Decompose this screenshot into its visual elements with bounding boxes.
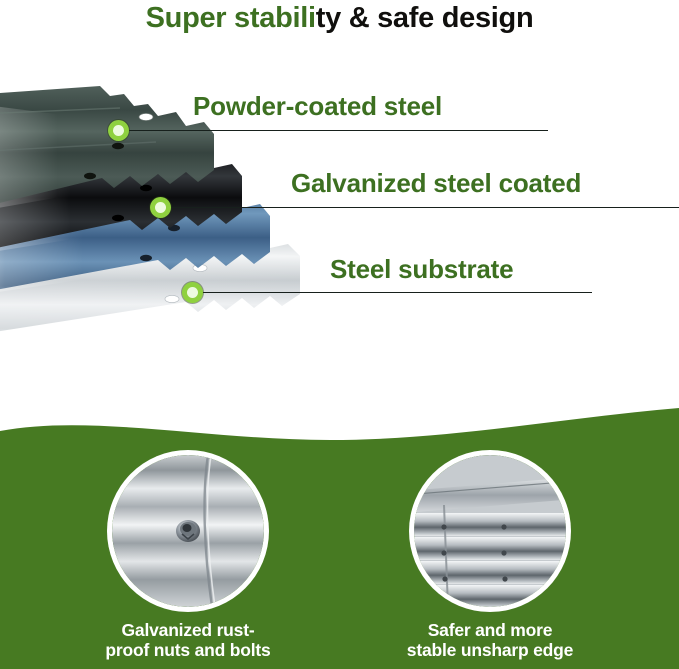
feature-caption-bolts: Galvanized rust- proof nuts and bolts — [38, 621, 338, 660]
page-title: Super stability & safe design — [0, 2, 679, 35]
callout-dot-powder — [108, 120, 129, 141]
callout-line-substrate — [192, 292, 592, 293]
callout-dot-substrate — [182, 282, 203, 303]
feature-caption-edge-line1: Safer and more — [428, 620, 553, 640]
callout-label-powder: Powder-coated steel — [193, 91, 442, 122]
feature-caption-edge: Safer and more stable unsharp edge — [340, 621, 640, 660]
feature-caption-edge-line2: stable unsharp edge — [407, 640, 573, 660]
galvanized-bolt-photo — [112, 455, 264, 607]
feature-unsharp-edge: Safer and more stable unsharp edge — [340, 455, 640, 660]
callout-label-galvanized: Galvanized steel coated — [291, 168, 581, 199]
callout-dot-galvanized — [150, 197, 171, 218]
callout-line-powder — [128, 130, 548, 131]
callout-line-galvanized — [160, 207, 679, 208]
page-title-green-part: Super stabili — [146, 2, 316, 34]
feature-caption-bolts-line2: proof nuts and bolts — [105, 640, 270, 660]
feature-galvanized-bolts: Galvanized rust- proof nuts and bolts — [38, 455, 338, 660]
rolled-edge-photo — [414, 455, 566, 607]
callout-label-substrate: Steel substrate — [330, 254, 513, 285]
page-title-black-part: ty & safe design — [316, 2, 534, 34]
feature-caption-bolts-line1: Galvanized rust- — [122, 620, 255, 640]
